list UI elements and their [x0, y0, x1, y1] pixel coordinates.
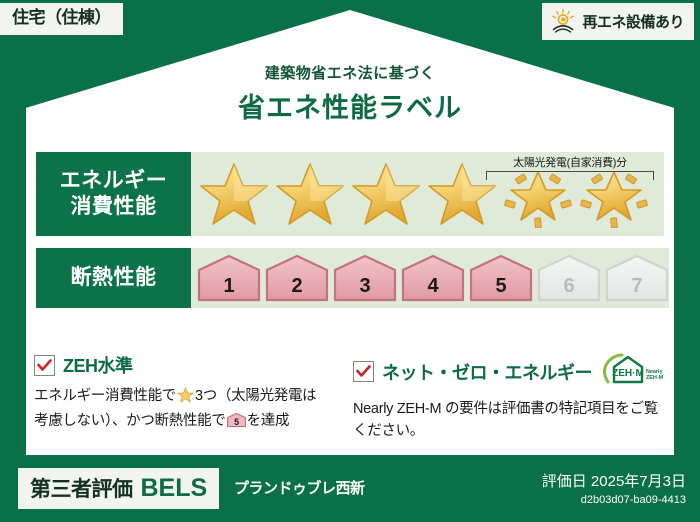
zeh-m-logo-icon: ZEH·M Nearly ZEH-M: [600, 352, 666, 391]
svg-text:ZEH·M: ZEH·M: [612, 368, 644, 379]
insulation-performance-value: 1 2 3: [191, 248, 669, 308]
evaluation-date: 評価日 2025年7月3日: [542, 470, 686, 491]
insulation-grade-value: 2: [291, 275, 302, 298]
title-block: 建築物省エネ法に基づく 省エネ性能ラベル: [0, 62, 700, 125]
zeh-standard-header: ZEH水準: [34, 352, 327, 378]
zeh-body-pre: エネルギー消費性能で: [34, 388, 176, 404]
zeh-body-post: を達成: [247, 413, 290, 429]
insulation-grade-value: 6: [563, 275, 574, 298]
net-zero-body: Nearly ZEH-M の要件は評価書の特記項目をご覧ください。: [353, 398, 666, 443]
title-subtitle: 建築物省エネ法に基づく: [0, 62, 700, 83]
footer-meta: 評価日 2025年7月3日 d2b03d07-ba09-4413: [542, 470, 686, 506]
checkmark-icon: [353, 361, 374, 382]
solar-sun-icon: [550, 8, 576, 34]
footer: 第三者評価 BELS プランドゥブレ西新 評価日 2025年7月3日 d2b03…: [0, 460, 700, 522]
star-filled: [425, 152, 499, 236]
zeh-standard-body: エネルギー消費性能で3つ（太陽光発電は考慮しない）、かつ断熱性能で5を達成: [34, 385, 327, 436]
bels-plate: 第三者評価 BELS: [18, 468, 219, 509]
star-rating: [197, 152, 664, 236]
rating-rows: エネルギー 消費性能: [36, 152, 664, 320]
energy-label-line1: エネルギー: [60, 168, 168, 194]
renewable-badge-label: 再エネ設備あり: [582, 11, 684, 32]
star-filled: [197, 152, 271, 236]
inline-grade-badge-icon: 5: [227, 412, 246, 435]
checkmark-icon: [34, 355, 55, 376]
zeh-standard-title: ZEH水準: [63, 352, 133, 378]
insulation-grade-badge: 4: [401, 254, 465, 302]
energy-performance-value: 太陽光発電(自家消費)分: [191, 152, 664, 236]
star-filled: [349, 152, 423, 236]
net-zero-header: ネット・ゼロ・エネルギー ZEH·M Nearly ZEH-M: [353, 352, 666, 391]
insulation-grade-badge: 5: [469, 254, 533, 302]
insulation-grade-value: 4: [427, 275, 438, 298]
net-zero-title: ネット・ゼロ・エネルギー: [382, 359, 592, 385]
svg-text:5: 5: [234, 418, 239, 428]
bels-jp-label: 第三者評価: [30, 473, 133, 503]
insulation-grade-badge: 6: [537, 254, 601, 302]
renewable-energy-badge: 再エネ設備あり: [542, 3, 694, 40]
star-filled: [273, 152, 347, 236]
net-zero-energy-note: ネット・ゼロ・エネルギー ZEH·M Nearly ZEH-M Nearly Z…: [353, 352, 666, 443]
notes-section: ZEH水準 エネルギー消費性能で3つ（太陽光発電は考慮しない）、かつ断熱性能で5…: [34, 352, 666, 443]
inline-star-icon: [177, 387, 194, 410]
energy-performance-label: 住宅（住棟） 再エネ設備あり 建築物省エネ法に基づく 省エネ性能ラベル: [0, 0, 700, 522]
zeh-standard-note: ZEH水準 エネルギー消費性能で3つ（太陽光発電は考慮しない）、かつ断熱性能で5…: [34, 352, 327, 443]
svg-text:ZEH-M: ZEH-M: [646, 375, 664, 381]
insulation-grade-value: 3: [359, 275, 370, 298]
insulation-label-text: 断熱性能: [71, 265, 157, 291]
insulation-grade-list: 1 2 3: [197, 248, 669, 308]
building-name: プランドゥブレ西新: [234, 477, 365, 498]
insulation-grade-badge: 1: [197, 254, 261, 302]
insulation-grade-badge: 7: [605, 254, 669, 302]
insulation-grade-value: 5: [495, 275, 506, 298]
insulation-grade-value: 7: [631, 275, 642, 298]
star-sparkle-solar: [501, 152, 575, 236]
star-sparkle-solar: [577, 152, 651, 236]
insulation-grade-badge: 3: [333, 254, 397, 302]
bels-en-label: BELS: [141, 474, 208, 503]
energy-label-line2: 消費性能: [71, 194, 157, 220]
energy-performance-label: エネルギー 消費性能: [36, 152, 191, 236]
insulation-performance-row: 断熱性能: [36, 248, 664, 308]
energy-performance-row: エネルギー 消費性能: [36, 152, 664, 236]
insulation-grade-badge: 2: [265, 254, 329, 302]
insulation-grade-value: 1: [223, 275, 234, 298]
insulation-performance-label: 断熱性能: [36, 248, 191, 308]
page-title: 省エネ性能ラベル: [0, 86, 700, 125]
building-type-tag: 住宅（住棟）: [0, 3, 123, 35]
evaluation-id: d2b03d07-ba09-4413: [542, 494, 686, 506]
